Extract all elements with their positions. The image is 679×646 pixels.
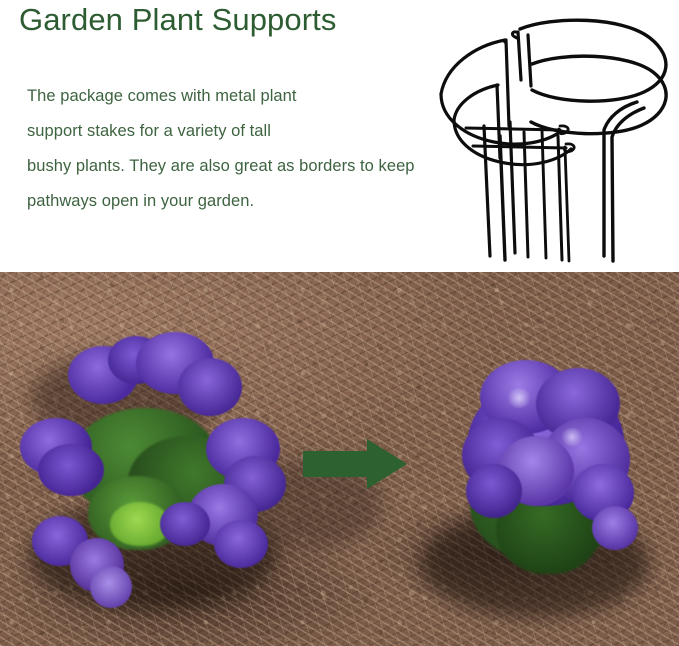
flower-cluster: [178, 358, 242, 416]
info-panel: Garden Plant Supports The package comes …: [0, 0, 679, 272]
before-after-arrow: [303, 438, 407, 490]
flower-cluster: [160, 502, 210, 546]
page-title: Garden Plant Supports: [19, 2, 336, 38]
plant-supported: [440, 332, 670, 592]
plant-unsupported: [10, 316, 300, 616]
flower-highlight: [560, 428, 584, 446]
flower-cluster: [90, 566, 132, 608]
plant-support-illustration: [432, 8, 679, 264]
before-after-photo: [0, 272, 679, 646]
flower-highlight: [506, 388, 532, 408]
flower-cluster: [214, 520, 268, 568]
flower-cluster: [592, 506, 638, 550]
flower-cluster: [38, 444, 104, 496]
flower-cluster: [466, 464, 522, 518]
product-infographic: Garden Plant Supports The package comes …: [0, 0, 679, 646]
arrow-shape: [303, 439, 407, 489]
